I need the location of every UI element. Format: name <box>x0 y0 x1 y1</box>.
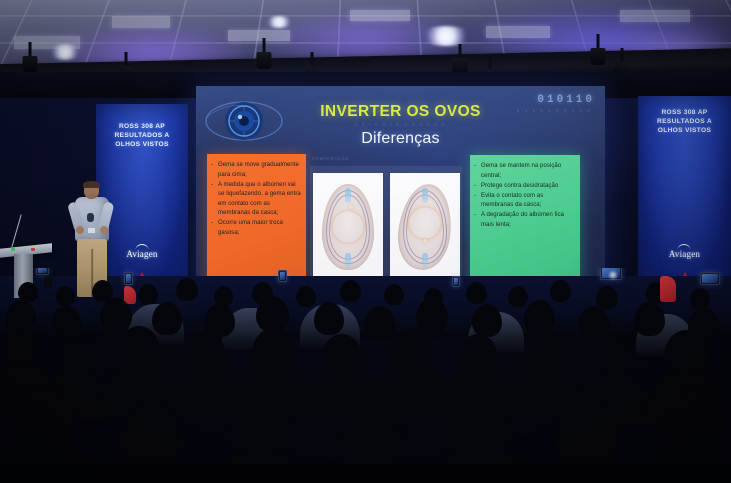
ceiling-lamp <box>48 44 82 60</box>
audience-head <box>384 284 404 305</box>
ceiling-light-panel <box>112 16 170 28</box>
list-item: Evita o contato com as membranas da casc… <box>474 192 575 211</box>
audience-shoulders <box>168 366 244 420</box>
left-bullet-list: Gema se move gradualmente para cima; A m… <box>211 161 301 238</box>
presenter-badge <box>88 228 95 233</box>
audience <box>0 268 731 483</box>
presenter-hair <box>83 181 100 188</box>
chalaza-top <box>422 188 428 203</box>
audience-head <box>524 300 555 334</box>
egg-yolk <box>409 207 440 238</box>
list-item: Gema se move gradualmente para cima; <box>211 161 301 180</box>
ceiling-light-panel <box>620 10 690 22</box>
audience-head <box>340 280 361 302</box>
presenter-hand-right <box>100 226 108 234</box>
germinal-disc <box>349 205 353 209</box>
egg-yolk <box>332 212 363 243</box>
audience-head <box>314 302 344 335</box>
ceiling-lamp <box>264 16 294 28</box>
ceiling-light-panel <box>350 10 410 21</box>
phone-screen <box>454 278 458 285</box>
aviagen-wordmark: Aviagen <box>669 249 700 259</box>
audience-head <box>466 282 487 304</box>
audience-head <box>596 286 618 309</box>
stage-spotlight <box>256 38 272 70</box>
audience-head <box>138 284 158 305</box>
phone-screen <box>280 272 285 280</box>
audience-phone <box>452 276 460 287</box>
slide-subtitle-faint: A T I V O I N O V A C A O <box>196 122 605 127</box>
germinal-disc <box>423 239 427 243</box>
right-bullet-list: Gema se mantem na posição central; Prote… <box>474 162 575 230</box>
audience-phone <box>36 268 49 275</box>
handheld-microphone <box>87 213 94 222</box>
stage-spotlight <box>590 34 606 66</box>
list-item: A degradação do albúmen fica mais lenta; <box>474 211 575 230</box>
banner-right-text: ROSS 308 AP RESULTADOS A OLHOS VISTOS <box>638 108 731 135</box>
audience-head <box>578 306 610 340</box>
chalaza-bottom <box>345 253 351 268</box>
raised-hand <box>44 274 52 288</box>
egg-diagram-vertical <box>313 173 383 281</box>
egg-diagram-tilted <box>390 173 460 281</box>
spotlight-head <box>591 48 606 65</box>
aviagen-wordmark: Aviagen <box>126 249 157 259</box>
conference-photo-scene: ROSS 308 AP RESULTADOS A OLHOS VISTOS Av… <box>0 0 731 483</box>
banner-left-text: ROSS 308 AP RESULTADOS A OLHOS VISTOS <box>96 122 188 149</box>
audience-foreground-mass <box>0 464 731 483</box>
presenter-hand-left <box>76 226 84 234</box>
aviagen-arc-icon <box>135 244 148 250</box>
audience-head <box>256 296 289 332</box>
audience-phone <box>124 272 133 285</box>
audience-phone <box>700 272 720 285</box>
audience-head <box>296 286 316 307</box>
audience-head <box>176 278 198 301</box>
chalaza-bottom <box>422 253 428 268</box>
phone-screen <box>38 268 47 273</box>
audience-head <box>56 286 75 306</box>
ceiling-light-panel <box>486 26 550 38</box>
spotlight-head <box>257 52 272 69</box>
audience-head <box>550 280 571 302</box>
phone-flash <box>608 270 618 280</box>
audience-phone <box>278 270 287 282</box>
list-item: Gema se mantem na posição central; <box>474 162 575 181</box>
ceiling <box>0 0 731 78</box>
indicator-green <box>11 248 15 251</box>
figure-label: COMPARAÇÃO <box>312 156 349 161</box>
audience-head <box>364 306 395 339</box>
phone-screen <box>126 274 131 283</box>
audience-head <box>6 300 36 332</box>
audience-head <box>152 302 182 335</box>
slide-heading: Diferenças <box>196 130 605 148</box>
ceiling-lamp <box>420 26 472 46</box>
list-item: Protege contra desidratação <box>474 182 575 192</box>
audience-head <box>214 286 233 306</box>
wall-red-graphic <box>660 276 676 302</box>
spotlight-head <box>23 56 38 73</box>
audience-head <box>472 304 502 337</box>
stage-spotlight <box>22 42 38 74</box>
list-item: Ocorre uma maior troca gasosa; <box>211 219 301 238</box>
audience-head <box>416 298 448 333</box>
audience-head <box>100 298 132 332</box>
audience-head <box>634 302 665 336</box>
aviagen-arc-icon <box>678 244 691 250</box>
indicator-red <box>31 248 35 251</box>
audience-head <box>52 306 81 337</box>
banner-right: ROSS 308 AP RESULTADOS A OLHOS VISTOS Av… <box>638 96 731 292</box>
audience-head <box>508 286 528 307</box>
chalaza-top <box>345 188 351 203</box>
audience-head <box>18 282 38 302</box>
list-item: A medida que o albúmen vai se liquefazen… <box>211 181 301 219</box>
audience-head <box>690 288 710 309</box>
slide-title: INVERTER OS OVOS <box>196 103 605 121</box>
banner-right-logo: Aviagen <box>638 244 731 262</box>
phone-screen <box>702 274 718 283</box>
